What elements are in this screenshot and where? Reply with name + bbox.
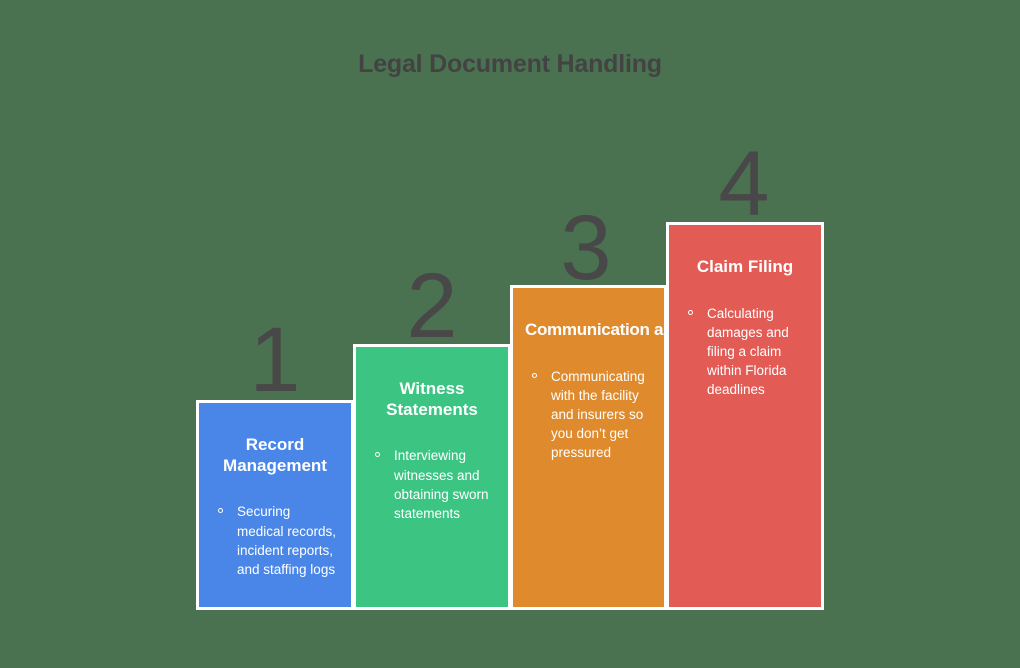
step-4-number: 4 [694,138,794,230]
step-4-content: Claim Filing Calculating damages and fil… [669,225,821,607]
bullet-text: Interviewing witnesses and obtaining swo… [394,448,489,520]
step-4[interactable]: Claim Filing Calculating damages and fil… [666,222,824,610]
page-title: Legal Document Handling [0,50,1020,79]
step-2-heading: Witness Statements [370,379,494,420]
step-2-content: Witness Statements Interviewing witnesse… [356,347,508,607]
list-item: Interviewing witnesses and obtaining swo… [374,446,494,523]
list-item: Communicating with the facility and insu… [531,367,650,463]
step-3-heading: Communication and Negotiation [525,320,650,341]
step-1-bullets: Securing medical records, incident repor… [213,502,337,579]
bullet-circle-icon [218,508,223,513]
step-1-number: 1 [225,314,325,406]
bullet-circle-icon [375,452,380,457]
bullet-text: Communicating with the facility and insu… [551,369,645,461]
bullet-text: Securing medical records, incident repor… [237,504,336,576]
step-1-content: Record Management Securing medical recor… [199,403,351,607]
staircase-chart: Record Management Securing medical recor… [196,120,824,610]
step-1[interactable]: Record Management Securing medical recor… [196,400,354,610]
step-4-bullets: Calculating damages and filing a claim w… [683,304,807,400]
step-3[interactable]: Communication and Negotiation Communicat… [510,285,667,610]
list-item: Securing medical records, incident repor… [217,502,337,579]
bullet-circle-icon [688,310,693,315]
step-2-bullets: Interviewing witnesses and obtaining swo… [370,446,494,523]
bullet-text: Calculating damages and filing a claim w… [707,306,789,398]
step-3-bullets: Communicating with the facility and insu… [527,367,650,463]
infographic-canvas: { "title": "Legal Document Handling", "b… [0,0,1020,668]
step-3-content: Communication and Negotiation Communicat… [513,288,664,607]
step-3-number: 3 [536,202,636,294]
step-2-number: 2 [382,260,482,352]
bullet-circle-icon [532,373,537,378]
step-2[interactable]: Witness Statements Interviewing witnesse… [353,344,511,610]
step-4-heading: Claim Filing [683,257,807,278]
list-item: Calculating damages and filing a claim w… [687,304,807,400]
step-1-heading: Record Management [213,435,337,476]
